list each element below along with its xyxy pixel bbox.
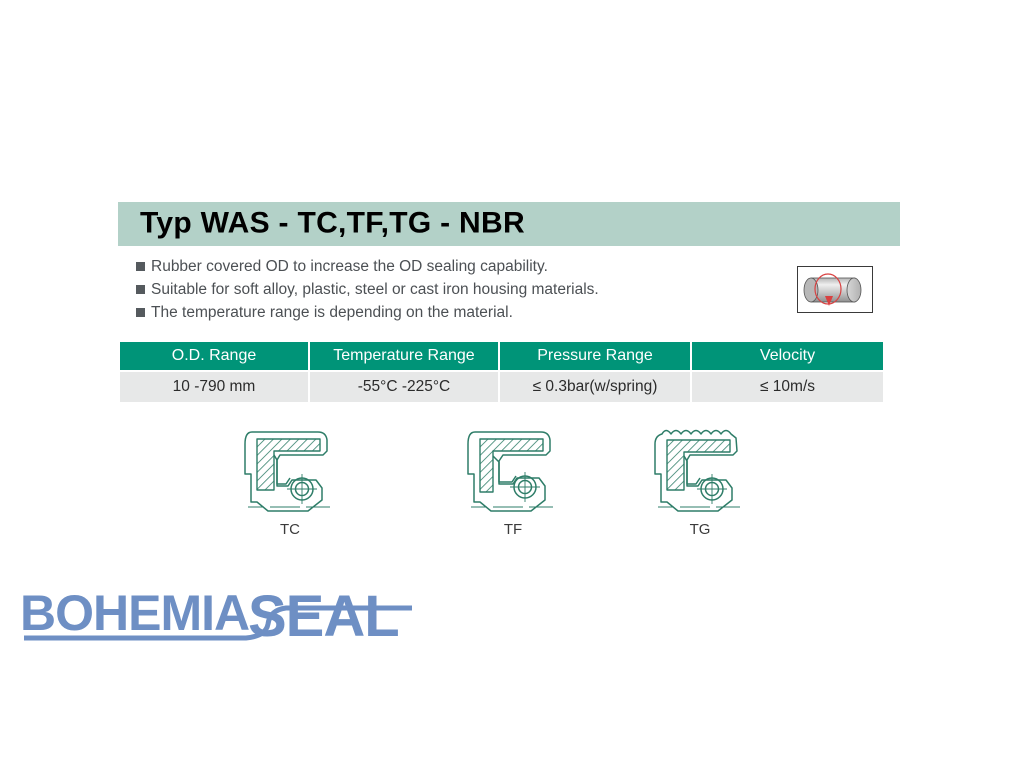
table-row: 10 -790 mm -55°C -225°C ≤ 0.3bar(w/sprin… [120, 372, 883, 402]
square-bullet-icon [136, 308, 145, 317]
list-item: Rubber covered OD to increase the OD sea… [136, 256, 756, 278]
list-item-label: Suitable for soft alloy, plastic, steel … [151, 279, 599, 300]
seal-diagram-tg: TG [625, 414, 775, 538]
rotating-shaft-icon [797, 266, 873, 313]
seal-diagram-tc: TC [215, 414, 365, 538]
list-item: Suitable for soft alloy, plastic, steel … [136, 279, 756, 301]
logo-graphic: BOHEMIA SEAL [18, 580, 418, 646]
title-banner: Typ WAS - TC,TF,TG - NBR [118, 202, 900, 246]
list-item: The temperature range is depending on th… [136, 302, 756, 324]
rotating-shaft-graphic [798, 267, 872, 312]
seal-cross-section-tc-graphic [230, 414, 350, 519]
seal-label-tg: TG [625, 521, 775, 538]
square-bullet-icon [136, 285, 145, 294]
seal-cross-section-tf-graphic [453, 414, 573, 519]
feature-list: Rubber covered OD to increase the OD sea… [136, 256, 756, 325]
column-header-temperature-range: Temperature Range [310, 342, 498, 370]
seal-diagram-row: TC TF [118, 414, 878, 549]
cell-temperature-range: -55°C -225°C [310, 372, 498, 402]
seal-diagram-tf: TF [438, 414, 588, 538]
table-header-row: O.D. Range Temperature Range Pressure Ra… [120, 342, 883, 370]
column-header-pressure-range: Pressure Range [500, 342, 690, 370]
cell-velocity: ≤ 10m/s [692, 372, 883, 402]
cell-od-range: 10 -790 mm [120, 372, 308, 402]
specification-table: O.D. Range Temperature Range Pressure Ra… [118, 340, 885, 404]
list-item-label: Rubber covered OD to increase the OD sea… [151, 256, 548, 277]
column-header-od-range: O.D. Range [120, 342, 308, 370]
square-bullet-icon [136, 262, 145, 271]
cell-pressure-range: ≤ 0.3bar(w/spring) [500, 372, 690, 402]
seal-label-tc: TC [215, 521, 365, 538]
seal-label-tf: TF [438, 521, 588, 538]
seal-cross-section-tg-graphic [640, 414, 760, 519]
column-header-velocity: Velocity [692, 342, 883, 370]
page-title: Typ WAS - TC,TF,TG - NBR [140, 206, 525, 240]
logo-word-bohemia: BOHEMIA [20, 585, 249, 641]
bohemia-seal-logo: BOHEMIA SEAL [18, 580, 418, 646]
list-item-label: The temperature range is depending on th… [151, 302, 513, 323]
